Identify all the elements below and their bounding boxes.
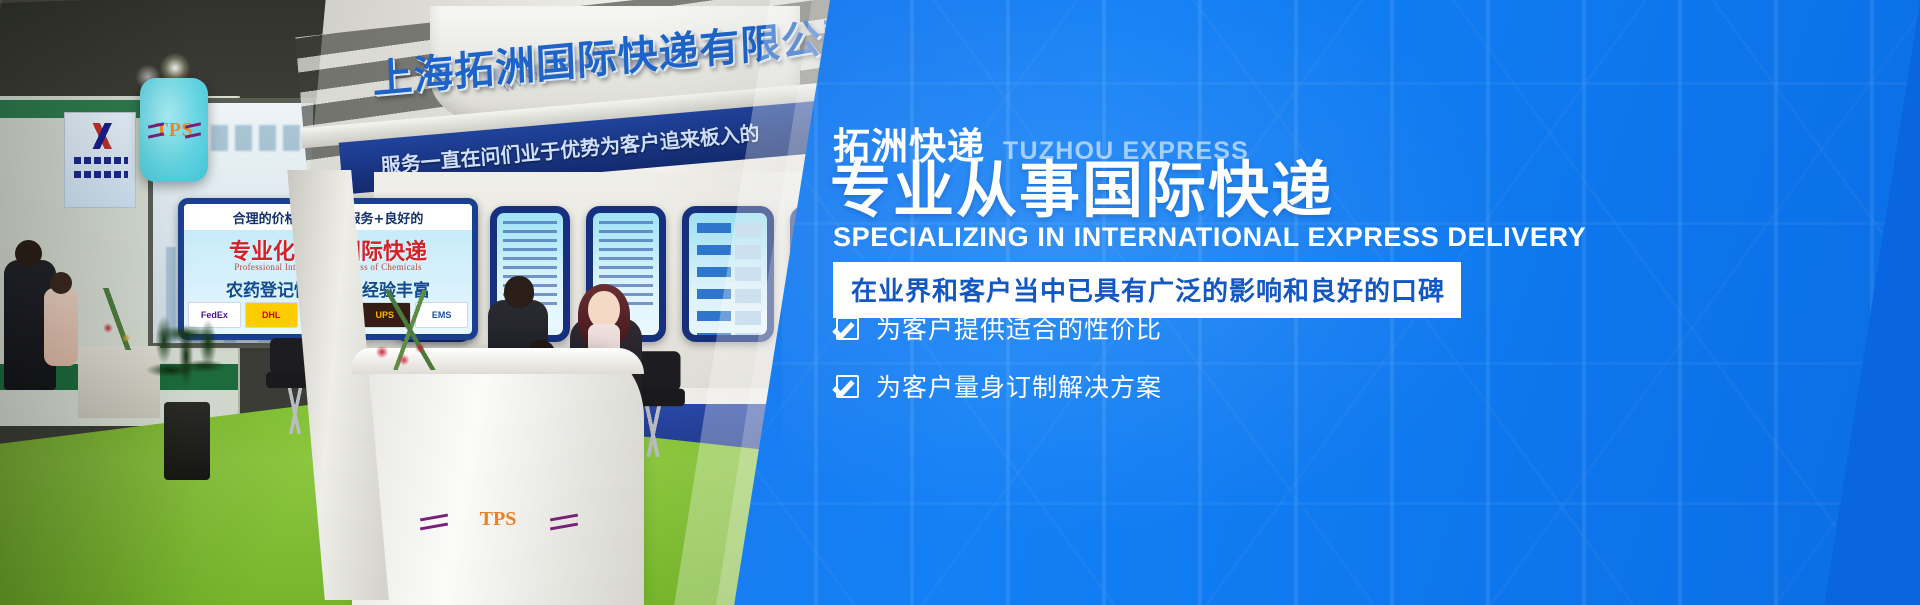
neighbour-logo-text-line-1 — [74, 157, 128, 164]
counter-logo-bar-icon — [420, 523, 448, 531]
counter-logo-bar-icon — [420, 514, 448, 522]
tps-logo-plaque: TPS — [140, 78, 208, 182]
list-item: 为客户量身订制解决方案 — [836, 368, 1162, 404]
plant-pot — [164, 402, 210, 480]
counter-tps-logo-text: TPS — [480, 508, 517, 531]
neighbour-logo-text-line-2 — [74, 171, 128, 178]
neighbour-logo-sign — [64, 112, 136, 208]
bullet-text: 为客户提供适合的性价比 — [876, 310, 1162, 346]
visitor-child — [44, 288, 78, 366]
neighbour-logo-mark-icon — [77, 123, 125, 149]
counter-logo-bar-icon — [550, 514, 578, 522]
feature-bullet-list: 为客户提供适合的性价比 为客户量身订制解决方案 — [836, 310, 1162, 404]
plant-leaves — [146, 300, 228, 416]
flower-arrangement — [82, 288, 152, 350]
counter-logo-bar-icon — [550, 523, 578, 531]
quote-text: 在业界和客户当中已具有广泛的影响和良好的口碑 — [851, 277, 1445, 307]
hero-banner: www.tpsz.com 上海拓洲国际快递有限公司 服务一直在问们业于优势为客户… — [0, 0, 1920, 605]
reception-counter: TPS — [352, 348, 644, 605]
potted-plant — [150, 300, 224, 480]
list-item: 为客户提供适合的性价比 — [836, 310, 1162, 346]
subheadline-en: SPECIALIZING IN INTERNATIONAL EXPRESS DE… — [833, 222, 1586, 253]
headline-cn: 专业从事国际快递 — [830, 160, 1334, 221]
checkbox-checked-icon — [836, 317, 859, 340]
checkbox-checked-icon — [836, 375, 859, 398]
dhl-logo-icon: DHL — [245, 302, 298, 328]
bullet-text: 为客户量身订制解决方案 — [876, 368, 1162, 404]
counter-flower-arrangement — [368, 290, 452, 370]
